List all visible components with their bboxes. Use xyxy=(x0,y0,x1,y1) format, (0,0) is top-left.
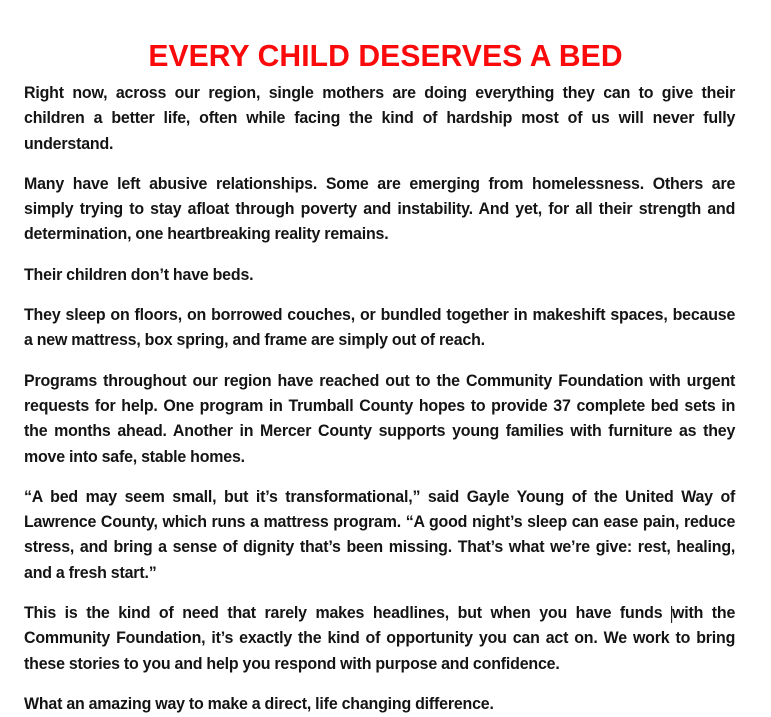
page-title: EVERY CHILD DESERVES A BED xyxy=(12,39,760,73)
document-page: EVERY CHILD DESERVES A BED Right now, ac… xyxy=(0,0,771,664)
paragraph-programs[interactable]: Programs throughout our region have reac… xyxy=(24,369,735,470)
paragraph-call-to-action-before-caret: This is the kind of need that rarely mak… xyxy=(24,604,671,622)
document-body[interactable]: Right now, across our region, single mot… xyxy=(24,81,746,717)
text-cursor-caret xyxy=(671,606,672,623)
paragraph-intro[interactable]: Right now, across our region, single mot… xyxy=(24,81,735,157)
paragraph-quote[interactable]: “A bed may seem small, but it’s transfor… xyxy=(24,485,735,586)
paragraph-closing[interactable]: What an amazing way to make a direct, li… xyxy=(24,692,735,717)
paragraph-no-beds[interactable]: Their children don’t have beds. xyxy=(24,263,735,288)
paragraph-call-to-action[interactable]: This is the kind of need that rarely mak… xyxy=(24,601,735,677)
paragraph-hardships[interactable]: Many have left abusive relationships. So… xyxy=(24,172,735,248)
paragraph-sleeping-arrangements[interactable]: They sleep on floors, on borrowed couche… xyxy=(24,303,735,354)
